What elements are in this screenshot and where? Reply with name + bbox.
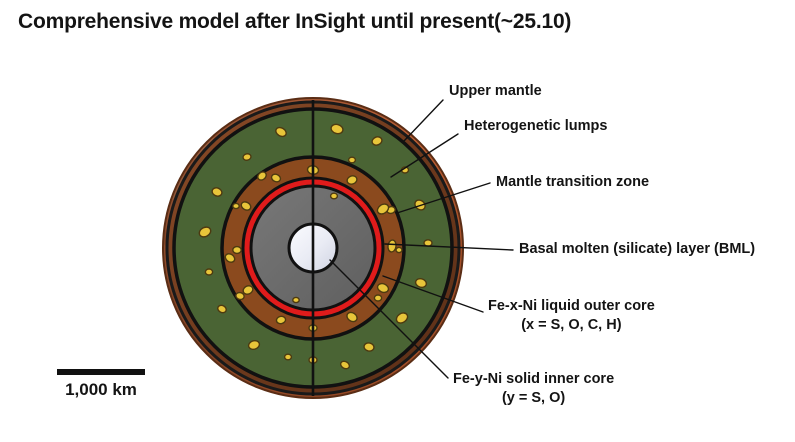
leader-upper-mantle — [404, 100, 443, 141]
callout-solid-inner-core-label: Fe-y-Ni solid inner core — [453, 371, 614, 387]
scale-bar: 1,000 km — [57, 369, 145, 411]
scale-bar-label: 1,000 km — [53, 380, 149, 400]
callout-mantle-transition-zone: Mantle transition zone — [496, 173, 649, 192]
callout-solid-inner-core: Fe-y-Ni solid inner core (y = S, O) — [453, 370, 614, 407]
callout-basal-molten-layer-label: Basal molten (silicate) layer (BML) — [519, 241, 755, 257]
callout-liquid-outer-core-label: Fe-x-Ni liquid outer core — [488, 298, 655, 314]
callout-solid-inner-core-sublabel: (y = S, O) — [453, 389, 614, 408]
callout-upper-mantle: Upper mantle — [449, 82, 542, 101]
diagram-page: Comprehensive model after InSight until … — [0, 0, 795, 442]
callout-upper-mantle-label: Upper mantle — [449, 83, 542, 99]
scale-bar-line — [57, 369, 145, 375]
callout-basal-molten-layer: Basal molten (silicate) layer (BML) — [519, 240, 755, 259]
callout-liquid-outer-core: Fe-x-Ni liquid outer core (x = S, O, C, … — [488, 297, 655, 334]
callout-mantle-transition-zone-label: Mantle transition zone — [496, 174, 649, 190]
callout-liquid-outer-core-sublabel: (x = S, O, C, H) — [488, 316, 655, 335]
interior-cutaway — [167, 100, 459, 396]
callout-heterogenetic-lumps-label: Heterogenetic lumps — [464, 118, 607, 134]
callout-heterogenetic-lumps: Heterogenetic lumps — [464, 117, 607, 136]
